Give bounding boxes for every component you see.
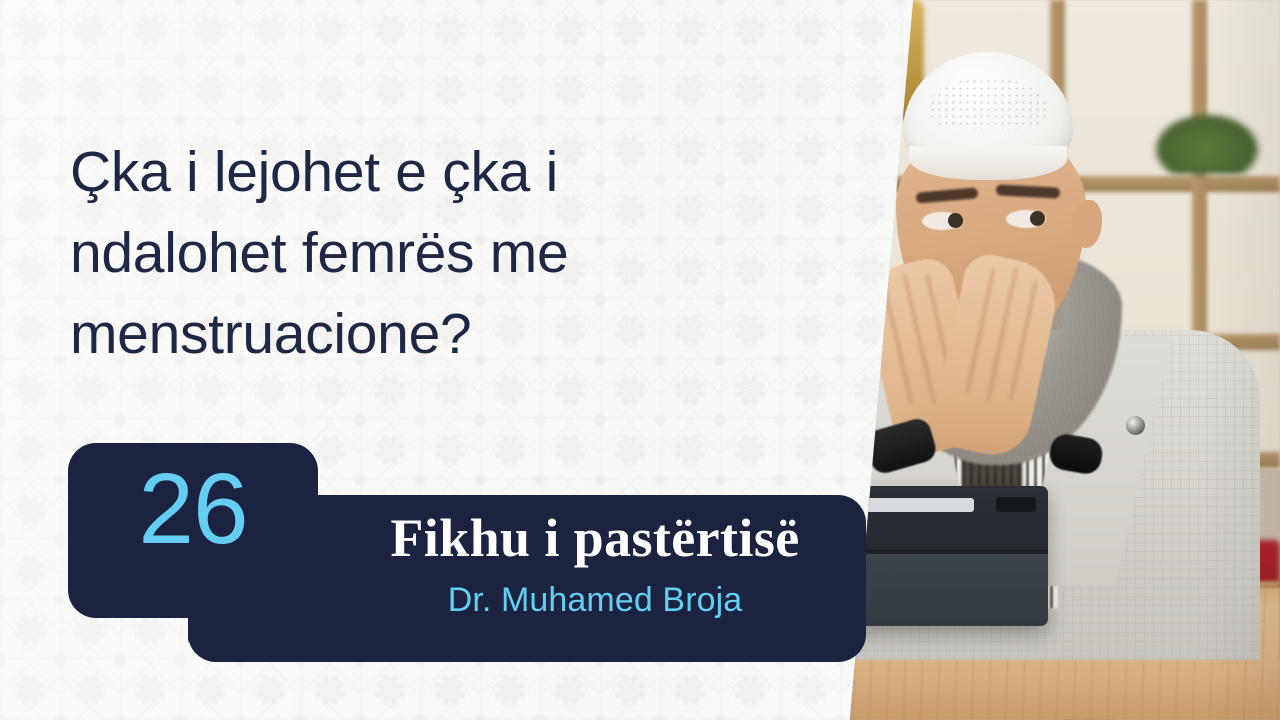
series-badge: 26 Fikhu i pastërtisë Dr. Muhamed Broja <box>68 443 866 662</box>
headline-line-2: ndalohet femrës me <box>70 213 730 294</box>
video-thumbnail: Çka i lejohet e çka i ndalohet femrës me… <box>0 0 1280 720</box>
author-name: Dr. Muhamed Broja <box>330 582 860 619</box>
series-title: Fikhu i pastërtisë <box>330 509 860 567</box>
headline-line-1: Çka i lejohet e çka i <box>70 132 730 213</box>
page-title: Çka i lejohet e çka i ndalohet femrës me… <box>70 132 730 375</box>
badge-notch-bottom <box>188 618 218 648</box>
headline-line-3: menstruacione? <box>70 294 730 375</box>
episode-number: 26 <box>68 459 318 559</box>
